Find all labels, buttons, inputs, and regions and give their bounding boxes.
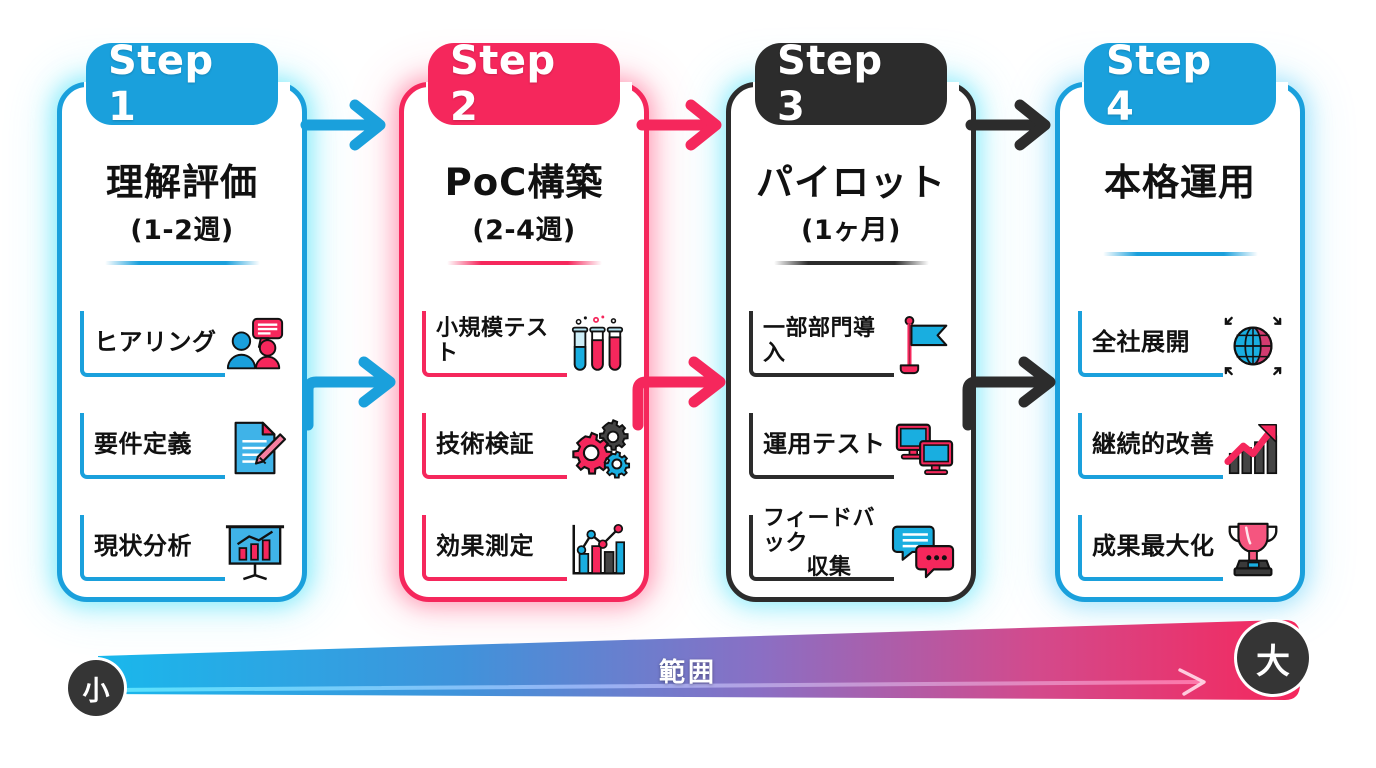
title-divider-4 (1103, 252, 1258, 256)
title-divider-2 (447, 261, 602, 265)
feature-label: 一部部門導入 (763, 317, 895, 366)
title-divider-1 (105, 261, 260, 265)
scope-start-cap: 小 (68, 660, 124, 716)
feature-label-line1: フィードバック (763, 506, 875, 556)
feature-label: 継続的改善 (1092, 431, 1224, 458)
presentation-chart-icon (222, 517, 288, 583)
feature-row[interactable]: 効果測定 (422, 509, 630, 591)
feature-row[interactable]: 現状分析 (80, 509, 288, 591)
trophy-icon (1220, 517, 1286, 583)
feature-list-1: ヒアリング 要件定義 (80, 305, 288, 611)
step-badge-3: Step 3 (755, 43, 947, 125)
monitors-icon (891, 415, 957, 481)
feature-row[interactable]: 運用テスト (749, 407, 957, 489)
growth-arrow-chart-icon (1220, 415, 1286, 481)
people-chat-icon (222, 313, 288, 379)
feature-label: 全社展開 (1092, 329, 1224, 356)
feature-label: 現状分析 (94, 533, 226, 560)
card-subtitle-1: (1-2週) (62, 208, 302, 247)
feature-label-line2: 収集 (763, 556, 895, 581)
arrow-top-step2-step3 (636, 95, 736, 155)
card-title-4: 本格運用 (1060, 163, 1300, 204)
speech-bubbles-icon (891, 517, 957, 583)
feature-label: 効果測定 (436, 533, 568, 560)
title-divider-3 (774, 261, 929, 265)
feature-label: 要件定義 (94, 431, 226, 458)
step-badge-2: Step 2 (428, 43, 620, 125)
arrow-top-step3-step4 (965, 95, 1065, 155)
card-subtitle-2: (2-4週) (404, 208, 644, 247)
step-badge-4: Step 4 (1084, 43, 1276, 125)
scope-bar: 範囲 (0, 612, 1376, 722)
globe-expand-icon (1220, 313, 1286, 379)
document-pencil-icon (222, 415, 288, 481)
scope-label: 範囲 (0, 652, 1376, 689)
scope-end-cap: 大 (1237, 622, 1309, 694)
step-badge-1: Step 1 (86, 43, 278, 125)
feature-row[interactable]: 要件定義 (80, 407, 288, 489)
feature-row[interactable]: 継続的改善 (1078, 407, 1286, 489)
card-header-2: PoC構築 (2-4週) (404, 163, 644, 265)
feature-row[interactable]: 小規模テスト (422, 305, 630, 387)
feature-list-3: 一部部門導入 運用テスト (749, 305, 957, 611)
card-header-1: 理解評価 (1-2週) (62, 163, 302, 265)
gears-icon (564, 415, 630, 481)
feature-label: 技術検証 (436, 431, 568, 458)
feature-label: 運用テスト (763, 431, 895, 458)
arrow-top-step1-step2 (300, 95, 400, 155)
card-header-4: 本格運用 (1060, 163, 1300, 256)
arrow-mid-step1-step2 (300, 330, 410, 440)
feature-label: 小規模テスト (436, 317, 568, 366)
feature-row[interactable]: ヒアリング (80, 305, 288, 387)
feature-row[interactable]: 技術検証 (422, 407, 630, 489)
step-card-4[interactable]: Step 4 本格運用 全社展開 (1055, 82, 1305, 602)
bar-line-chart-icon (564, 517, 630, 583)
card-title-3: パイロット (731, 163, 971, 204)
feature-row[interactable]: フィードバック 収集 (749, 509, 957, 591)
step-card-2[interactable]: Step 2 PoC構築 (2-4週) 小規模テスト (399, 82, 649, 602)
feature-label: フィードバック 収集 (763, 507, 895, 581)
step-card-3[interactable]: Step 3 パイロット (1ヶ月) 一部部門導入 (726, 82, 976, 602)
feature-row[interactable]: 一部部門導入 (749, 305, 957, 387)
feature-list-4: 全社展開 (1078, 305, 1286, 611)
feature-list-2: 小規模テスト (422, 305, 630, 611)
infographic-canvas: Step 1 理解評価 (1-2週) ヒアリング (0, 0, 1376, 768)
feature-label: ヒアリング (94, 329, 226, 356)
feature-row[interactable]: 成果最大化 (1078, 509, 1286, 591)
card-header-3: パイロット (1ヶ月) (731, 163, 971, 265)
card-title-1: 理解評価 (62, 163, 302, 204)
arrow-mid-step2-step3 (630, 330, 740, 440)
step-card-1[interactable]: Step 1 理解評価 (1-2週) ヒアリング (57, 82, 307, 602)
feature-row[interactable]: 全社展開 (1078, 305, 1286, 387)
card-subtitle-3: (1ヶ月) (731, 208, 971, 247)
flag-icon (891, 313, 957, 379)
feature-label: 成果最大化 (1092, 533, 1224, 560)
card-title-2: PoC構築 (404, 163, 644, 204)
arrow-mid-step3-step4 (960, 330, 1070, 440)
test-tubes-icon (564, 313, 630, 379)
